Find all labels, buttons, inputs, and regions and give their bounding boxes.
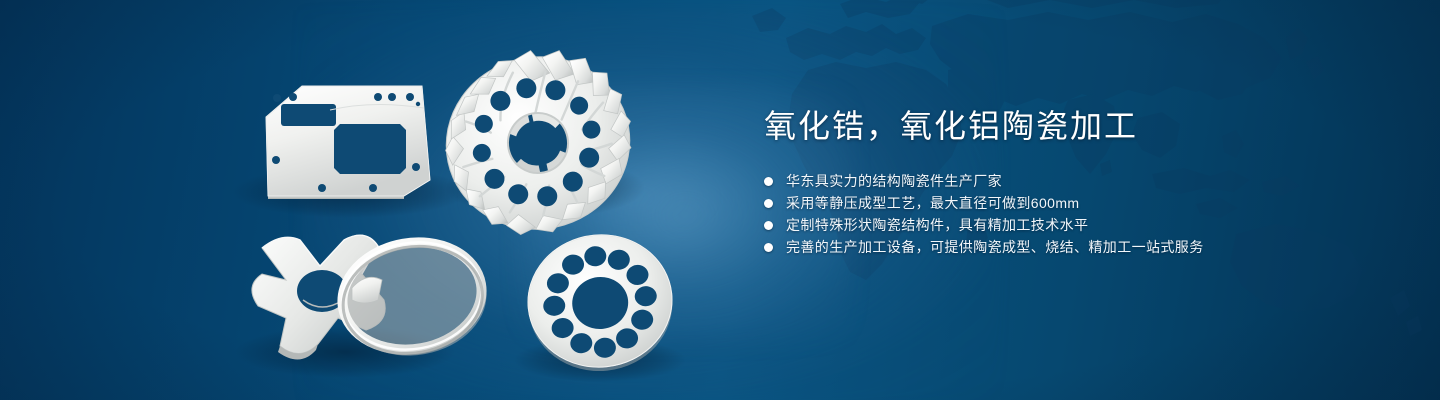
feature-text: 定制特殊形状陶瓷结构件，具有精加工技术水平 (786, 214, 1088, 236)
bullet-dot-icon (764, 177, 773, 186)
feature-text: 采用等静压成型工艺，最大直径可做到600mm (786, 192, 1079, 214)
ceramic-impeller-part (429, 33, 650, 250)
feature-text: 华东具实力的结构陶瓷件生产厂家 (786, 170, 1002, 192)
list-item: 采用等静压成型工艺，最大直径可做到600mm (764, 192, 1404, 214)
banner-copy: 氧化锆，氧化铝陶瓷加工 华东具实力的结构陶瓷件生产厂家 采用等静压成型工艺，最大… (764, 104, 1404, 258)
list-item: 定制特殊形状陶瓷结构件，具有精加工技术水平 (764, 214, 1404, 236)
bullet-dot-icon (764, 199, 773, 208)
list-item: 华东具实力的结构陶瓷件生产厂家 (764, 170, 1404, 192)
feature-text: 完善的生产加工设备，可提供陶瓷成型、烧结、精加工一站式服务 (786, 236, 1204, 258)
ceramic-products-image (0, 0, 720, 400)
promo-banner: 氧化锆，氧化铝陶瓷加工 华东具实力的结构陶瓷件生产厂家 采用等静压成型工艺，最大… (0, 0, 1440, 400)
bullet-dot-icon (764, 243, 773, 252)
feature-list: 华东具实力的结构陶瓷件生产厂家 采用等静压成型工艺，最大直径可做到600mm 定… (764, 170, 1404, 258)
page-title: 氧化锆，氧化铝陶瓷加工 (764, 104, 1404, 148)
bullet-dot-icon (764, 221, 773, 230)
ceramic-plate-part (266, 86, 430, 199)
list-item: 完善的生产加工设备，可提供陶瓷成型、烧结、精加工一站式服务 (764, 236, 1404, 258)
